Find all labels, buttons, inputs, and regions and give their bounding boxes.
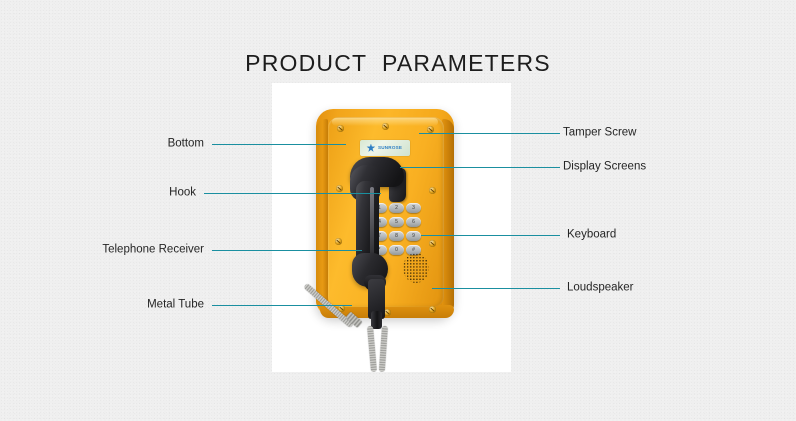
callout-label-display-screens: Display Screens <box>563 161 646 173</box>
leader-line-display-screens <box>400 167 560 168</box>
leader-line-bottom <box>212 144 346 145</box>
callout-label-metal-tube: Metal Tube <box>40 299 204 311</box>
callout-label-hook: Hook <box>40 187 196 199</box>
leader-line-loudspeaker <box>432 288 560 289</box>
display-screen-plate: SUNROSE <box>360 140 410 156</box>
tamper-screw-mid-right <box>429 187 436 194</box>
callout-label-keyboard: Keyboard <box>567 229 616 241</box>
key-8[interactable]: 8 <box>389 231 404 241</box>
tamper-screw-low-left <box>335 238 342 245</box>
key-2[interactable]: 2 <box>389 203 404 213</box>
brand-name: SUNROSE <box>378 145 402 151</box>
callout-label-tamper-screw: Tamper Screw <box>563 127 637 139</box>
keypad[interactable]: 1 2 3 4 5 6 7 8 9 * 0 # <box>372 203 436 255</box>
tamper-screw-bottom-right <box>429 306 436 313</box>
leader-line-tamper-screw <box>419 133 560 134</box>
leader-line-keyboard <box>421 235 560 236</box>
key-9[interactable]: 9 <box>406 231 421 241</box>
tamper-screw-mid-left <box>336 185 343 192</box>
page-title: PRODUCT PARAMETERS <box>0 50 796 77</box>
key-6[interactable]: 6 <box>406 217 421 227</box>
handset-grip-highlight <box>370 187 374 259</box>
leader-line-metal-tube <box>212 305 352 306</box>
callout-label-bottom: Bottom <box>40 138 204 150</box>
leader-line-telephone-receiver <box>212 250 362 251</box>
key-5[interactable]: 5 <box>389 217 404 227</box>
tamper-screw-top-center <box>382 123 389 130</box>
key-0[interactable]: 0 <box>389 245 404 255</box>
loudspeaker-grille <box>403 253 429 283</box>
key-3[interactable]: 3 <box>406 203 421 213</box>
metal-tube-center <box>367 326 377 372</box>
product-photo-panel: SUNROSE 1 2 3 4 5 6 7 8 9 * 0 # <box>272 83 511 372</box>
tamper-screw-top-left <box>337 125 344 132</box>
metal-tube-right <box>379 326 388 372</box>
tamper-screw-bottom-center <box>384 309 391 316</box>
tamper-screw-top-right <box>427 126 434 133</box>
phone-left-edge <box>316 119 328 311</box>
brand-star-icon <box>366 144 375 153</box>
callout-label-loudspeaker: Loudspeaker <box>567 282 634 294</box>
leader-line-hook <box>204 193 381 194</box>
callout-label-telephone-receiver: Telephone Receiver <box>40 244 204 256</box>
